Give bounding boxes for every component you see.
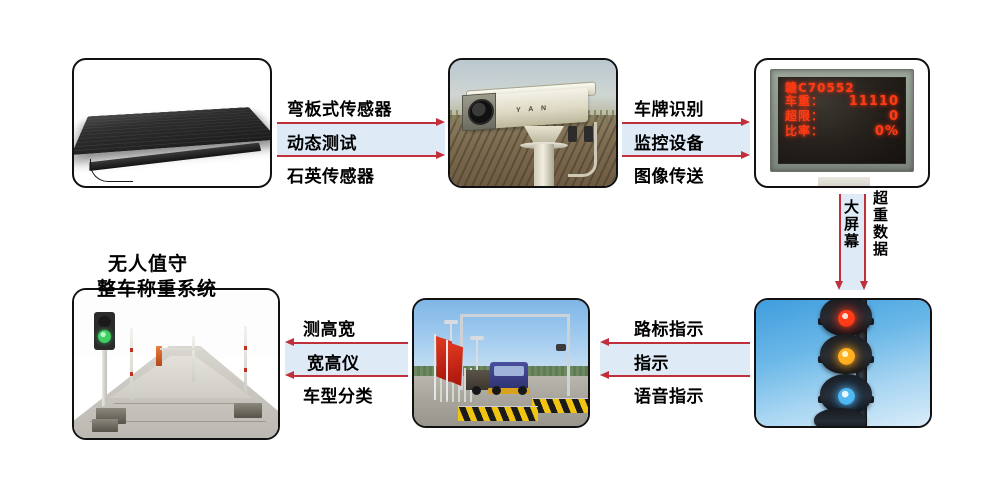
edge-light-to-gantry-arrow-top xyxy=(608,342,750,344)
edge-led-to-light-arrow-left xyxy=(839,194,841,282)
amber-light-icon xyxy=(838,348,855,365)
edge-plate-to-camera-label-top: 弯板式传感器 xyxy=(287,95,392,120)
blue-light-icon xyxy=(838,388,855,405)
edge-gantry-to-weighbridge-label-mid: 宽高仪 xyxy=(307,349,360,374)
led-row-weight: 车重： 11110 xyxy=(785,95,899,110)
red-light-icon xyxy=(838,310,855,327)
edge-light-to-gantry-label-top: 路标指示 xyxy=(634,315,704,340)
led-ratio-label: 比率： xyxy=(785,125,824,138)
edge-light-to-gantry-label-mid: 指示 xyxy=(634,349,669,374)
edge-light-to-gantry-arrow-bottom xyxy=(608,375,750,377)
led-ratio-value: 0% xyxy=(875,125,899,140)
led-overload-label: 超限： xyxy=(785,110,824,123)
diagram-canvas: Y A N 赣C70552 车重： 11110 超限： xyxy=(0,0,1000,500)
edge-plate-to-camera-arrow-top xyxy=(277,122,437,124)
edge-camera-to-led-label-top: 车牌识别 xyxy=(634,95,704,120)
edge-gantry-to-weighbridge-label-bottom: 车型分类 xyxy=(303,382,373,407)
node-weighbridge xyxy=(72,288,280,440)
edge-camera-to-led-label-bottom: 图像传送 xyxy=(634,162,704,187)
node-traffic-light xyxy=(754,298,932,428)
node-led-board: 赣C70552 车重： 11110 超限： 0 比率： 0% xyxy=(754,58,930,188)
edge-plate-to-camera-label-mid: 动态测试 xyxy=(287,129,357,154)
node-plate-sensor xyxy=(72,58,272,188)
led-row-ratio: 比率： 0% xyxy=(785,125,899,140)
truck-gantry-icon xyxy=(414,300,588,426)
led-overload-value: 0 xyxy=(889,110,899,125)
node-camera: Y A N xyxy=(448,58,618,188)
edge-led-to-light-label-right: 超重数据 xyxy=(872,190,887,258)
weighbridge-icon xyxy=(74,290,278,438)
edge-camera-to-led-arrow-top xyxy=(622,122,742,124)
edge-plate-to-camera-label-bottom: 石英传感器 xyxy=(287,162,375,187)
led-weight-value: 11110 xyxy=(849,95,899,110)
led-display-icon: 赣C70552 车重： 11110 超限： 0 比率： 0% xyxy=(756,60,928,186)
green-light-icon xyxy=(98,330,111,343)
led-screen: 赣C70552 车重： 11110 超限： 0 比率： 0% xyxy=(778,77,906,164)
traffic-light-icon xyxy=(756,300,930,426)
camera-icon: Y A N xyxy=(450,60,616,186)
edge-led-to-light-arrow-right xyxy=(864,194,866,282)
edge-gantry-to-weighbridge-arrow-bottom xyxy=(293,375,408,377)
led-row-overload: 超限： 0 xyxy=(785,110,899,125)
edge-light-to-gantry-band xyxy=(600,342,750,376)
led-weight-label: 车重： xyxy=(785,95,824,108)
edge-camera-to-led-label-mid: 监控设备 xyxy=(634,129,704,154)
edge-plate-to-camera-arrow-bottom xyxy=(277,155,437,157)
weigh-plate-icon xyxy=(74,60,270,186)
edge-gantry-to-weighbridge-label-top: 测高宽 xyxy=(303,315,356,340)
edge-light-to-gantry-label-bottom: 语音指示 xyxy=(634,382,704,407)
system-title-line1: 无人值守 xyxy=(108,252,188,276)
system-title-line2: 整车称重系统 xyxy=(97,277,217,301)
node-gantry-truck xyxy=(412,298,590,428)
edge-camera-to-led-arrow-bottom xyxy=(622,155,742,157)
edge-led-to-light-label-left: 大屏幕 xyxy=(843,199,858,250)
edge-gantry-to-weighbridge-arrow-top xyxy=(293,342,408,344)
